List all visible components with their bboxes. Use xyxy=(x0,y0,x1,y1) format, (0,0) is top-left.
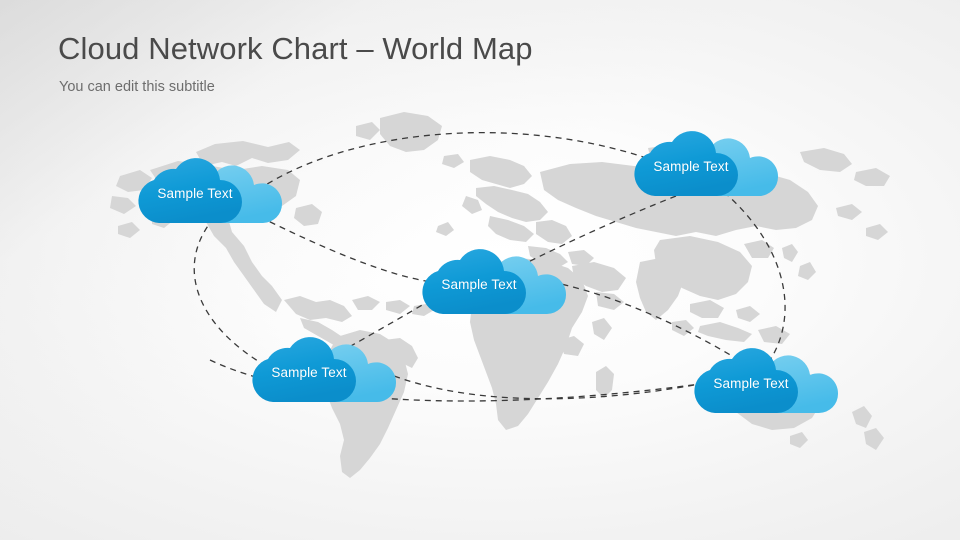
cloud-shape-icon xyxy=(250,320,410,424)
cloud-node-5[interactable]: Sample Text xyxy=(692,331,852,435)
cloud-shape-icon xyxy=(420,232,580,336)
cloud-shape-icon xyxy=(632,114,792,218)
page-title: Cloud Network Chart – World Map xyxy=(58,31,533,67)
cloud-node-3[interactable]: Sample Text xyxy=(420,232,580,336)
slide-canvas: Cloud Network Chart – World Map You can … xyxy=(0,0,960,540)
cloud-node-1[interactable]: Sample Text xyxy=(136,141,296,245)
cloud-node-2[interactable]: Sample Text xyxy=(632,114,792,218)
cloud-shape-icon xyxy=(136,141,296,245)
page-subtitle: You can edit this subtitle xyxy=(59,79,215,95)
cloud-node-4[interactable]: Sample Text xyxy=(250,320,410,424)
cloud-shape-icon xyxy=(692,331,852,435)
